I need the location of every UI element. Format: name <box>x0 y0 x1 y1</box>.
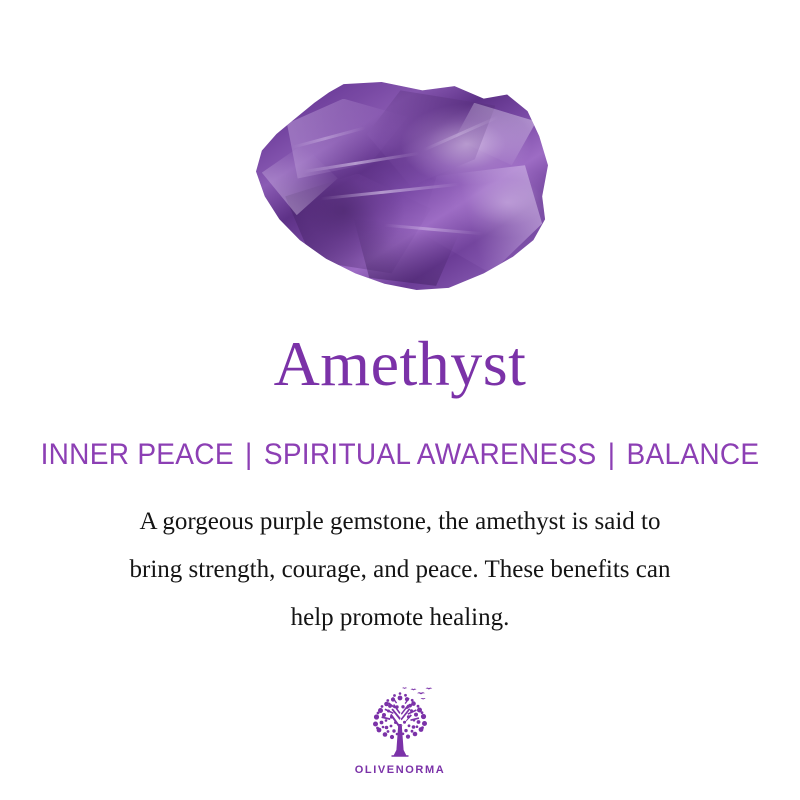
description-line: A gorgeous purple gemstone, the amethyst… <box>56 498 744 546</box>
amethyst-stone-image <box>256 82 548 290</box>
stone-highlight <box>385 223 484 235</box>
stone-facet <box>420 165 543 273</box>
stone-facet <box>274 99 408 182</box>
stone-highlight <box>320 183 460 201</box>
keyword-spiritual-awareness: SPIRITUAL AWARENESS <box>264 440 597 470</box>
stone-highlight <box>422 115 498 151</box>
amethyst-stone-body <box>256 82 548 290</box>
description-line: bring strength, courage, and peace. Thes… <box>56 546 744 594</box>
stone-highlight <box>303 152 419 173</box>
keyword-separator: | <box>234 440 264 470</box>
description-line: help promote healing. <box>56 594 744 642</box>
keyword-list: INNER PEACE | SPIRITUAL AWARENESS | BALA… <box>26 440 774 470</box>
hero-image-area <box>0 62 800 302</box>
brand-wordmark: OLIVENORMA <box>355 764 446 776</box>
brand-logo: OLIVENORMA <box>0 684 800 776</box>
page-title: Amethyst <box>0 332 800 396</box>
amethyst-product-card: Amethyst INNER PEACE | SPIRITUAL AWARENE… <box>0 0 800 800</box>
keyword-separator: | <box>596 440 626 470</box>
stone-facet <box>367 90 495 186</box>
stone-highlight <box>292 126 366 149</box>
description-text: A gorgeous purple gemstone, the amethyst… <box>56 498 744 642</box>
keyword-balance: BALANCE <box>627 440 760 470</box>
stone-facet <box>455 103 537 165</box>
stone-facet <box>262 144 338 215</box>
keyword-inner-peace: INNER PEACE <box>41 440 234 470</box>
tree-of-life-icon <box>357 684 443 760</box>
